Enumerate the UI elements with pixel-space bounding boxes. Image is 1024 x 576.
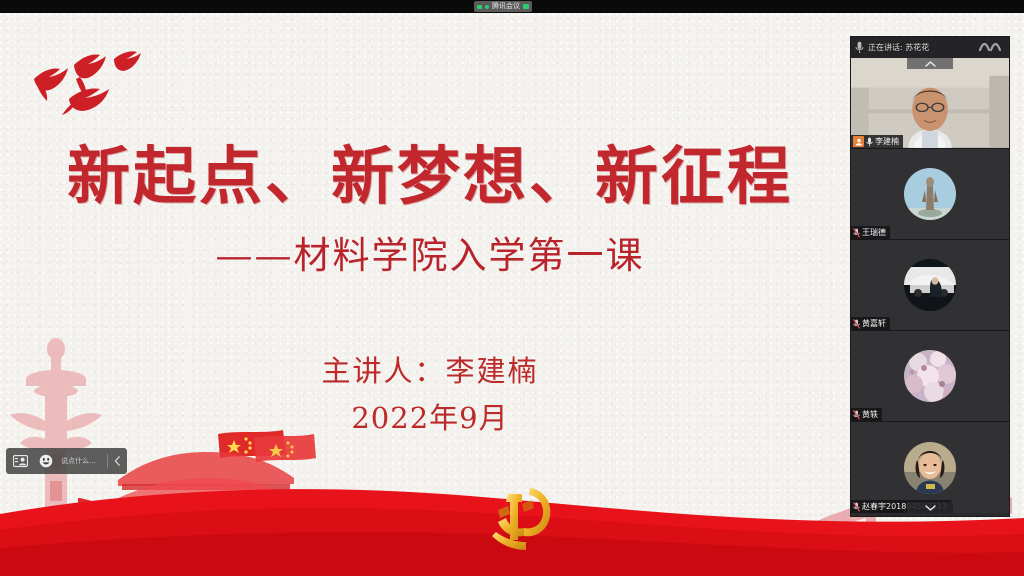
participant-panel: 正在讲话: 苏花花 (850, 36, 1010, 517)
page-title: 新起点、新梦想、新征程 (0, 141, 860, 212)
window-indicator-dot-icon (485, 5, 489, 9)
participant-tile[interactable]: 赵春宇201804502113 (851, 422, 1009, 513)
screen-root: 腾讯会议 (0, 0, 1024, 576)
chat-input[interactable]: 说点什么... (59, 448, 107, 474)
participant-nametag: 李建楠 (851, 135, 903, 148)
microphone-muted-icon (853, 502, 860, 512)
share-screen-icon (13, 455, 28, 468)
microphone-icon (855, 41, 864, 54)
avatar (904, 168, 956, 220)
participant-tiles: 李建楠 (851, 58, 1009, 516)
slide-text-block: 新起点、新梦想、新征程 ——材料学院入学第一课 主讲人：李建楠 2022年9月 (0, 13, 860, 576)
participant-name: 黄嘉轩 (862, 318, 886, 329)
participant-tile[interactable]: 黄嘉轩 (851, 240, 1009, 331)
tencent-meeting-pill[interactable]: 腾讯会议 (474, 1, 532, 12)
participant-tile[interactable]: 李建楠 (851, 58, 1009, 149)
chevron-up-icon (925, 61, 936, 67)
participant-tile[interactable]: 王瑞德 (851, 149, 1009, 240)
presenter-line: 主讲人：李建楠 (0, 348, 860, 390)
participant-nametag: 黄轶 (851, 408, 882, 421)
chevron-down-icon (925, 505, 936, 511)
participant-nametag: 黄嘉轩 (851, 317, 890, 330)
blossom-avatar-image (904, 350, 956, 402)
speaking-status-label: 正在讲话: 苏花花 (868, 42, 929, 53)
statue-avatar-image (904, 168, 956, 220)
window-indicator-end-icon (523, 4, 529, 9)
avatar (904, 259, 956, 311)
participant-tile[interactable]: 黄轶 (851, 331, 1009, 422)
floating-chat-toolbar[interactable]: 说点什么... (6, 448, 127, 474)
window-indicator-icon (477, 5, 482, 9)
app-name-label: 腾讯会议 (492, 1, 520, 12)
host-badge-icon (853, 136, 864, 147)
microphone-muted-icon (853, 228, 860, 238)
chevron-left-icon (114, 456, 121, 466)
microphone-muted-icon (853, 410, 860, 420)
microphone-icon (866, 137, 873, 147)
audio-wave-icon (979, 41, 1005, 53)
meeting-top-bar: 腾讯会议 (0, 0, 1024, 13)
participant-name: 李建楠 (875, 136, 899, 147)
host-person-icon (855, 138, 863, 146)
emoji-button[interactable] (33, 448, 59, 474)
participant-name: 王瑞德 (862, 227, 886, 238)
avatar (904, 442, 956, 494)
speaking-status-bar: 正在讲话: 苏花花 (851, 37, 1009, 58)
scroll-up-button[interactable] (907, 58, 953, 69)
participant-nametag: 王瑞德 (851, 226, 890, 239)
scroll-down-button[interactable] (907, 502, 953, 513)
participant-name: 黄轶 (862, 409, 878, 420)
emoji-icon (39, 454, 53, 468)
car-avatar-image (904, 259, 956, 311)
slide-subtitle: ——材料学院入学第一课 (0, 225, 860, 279)
slide-date: 2022年9月 (0, 395, 860, 437)
person-avatar-image (904, 442, 956, 494)
microphone-muted-icon (853, 319, 860, 329)
avatar (904, 350, 956, 402)
collapse-toolbar-button[interactable] (108, 448, 126, 474)
share-screen-button[interactable] (7, 448, 33, 474)
